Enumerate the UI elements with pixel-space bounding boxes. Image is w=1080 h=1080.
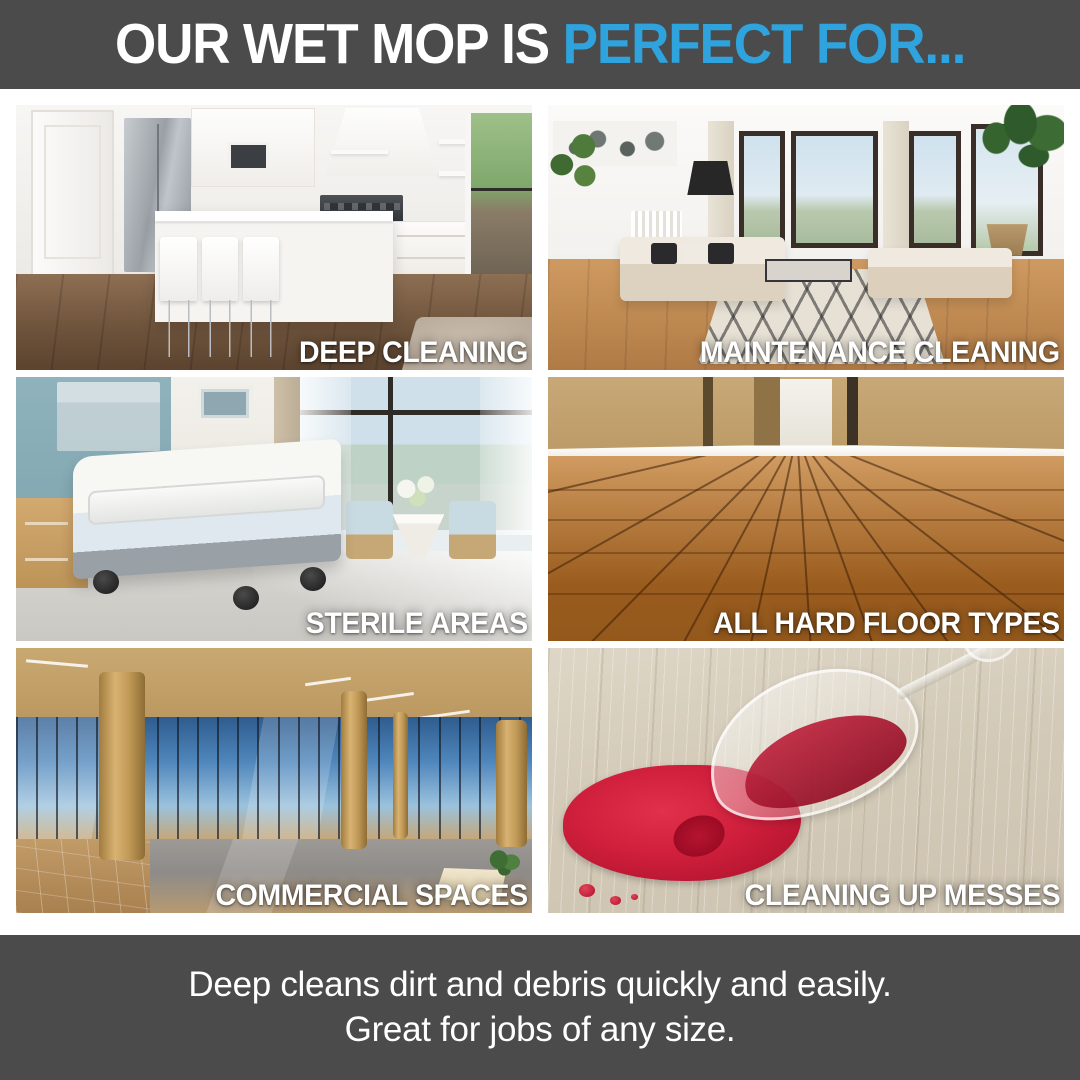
tile-label-maintenance-cleaning: MAINTENANCE CLEANING: [700, 338, 1060, 368]
page-title-accent: PERFECT FOR...: [563, 12, 966, 76]
living-room-photo: [548, 105, 1064, 370]
page-title: OUR WET MOP IS PERFECT FOR...: [115, 16, 965, 73]
commercial-lobby-photo: [16, 648, 532, 913]
tile-label-all-hard-floor-types: ALL HARD FLOOR TYPES: [713, 609, 1060, 639]
hardwood-floor-photo: [548, 377, 1064, 642]
kitchen-photo: [16, 105, 532, 370]
tile-commercial-spaces[interactable]: COMMERCIAL SPACES: [16, 648, 532, 913]
tile-label-sterile-areas: STERILE AREAS: [306, 609, 528, 639]
tile-cleaning-up-messes[interactable]: CLEANING UP MESSES: [548, 648, 1064, 913]
wine-spill-photo: [548, 648, 1064, 913]
benefit-grid: DEEP CLEANING MAINTE: [0, 89, 1080, 935]
tile-all-hard-floor-types[interactable]: ALL HARD FLOOR TYPES: [548, 377, 1064, 642]
tile-label-commercial-spaces: COMMERCIAL SPACES: [216, 881, 528, 911]
footer-line-2: Great for jobs of any size.: [345, 1008, 736, 1053]
tile-label-deep-cleaning: DEEP CLEANING: [299, 338, 528, 368]
tile-sterile-areas[interactable]: STERILE AREAS: [16, 377, 532, 642]
footer-line-1: Deep cleans dirt and debris quickly and …: [188, 963, 891, 1008]
poster-root: OUR WET MOP IS PERFECT FOR... DEE: [0, 0, 1080, 1080]
footer-band: Deep cleans dirt and debris quickly and …: [0, 935, 1080, 1080]
tile-deep-cleaning[interactable]: DEEP CLEANING: [16, 105, 532, 370]
tile-label-cleaning-up-messes: CLEANING UP MESSES: [744, 881, 1060, 911]
page-title-primary: OUR WET MOP IS: [115, 12, 563, 76]
hospital-room-photo: [16, 377, 532, 642]
tile-maintenance-cleaning[interactable]: MAINTENANCE CLEANING: [548, 105, 1064, 370]
header-band: OUR WET MOP IS PERFECT FOR...: [0, 0, 1080, 89]
